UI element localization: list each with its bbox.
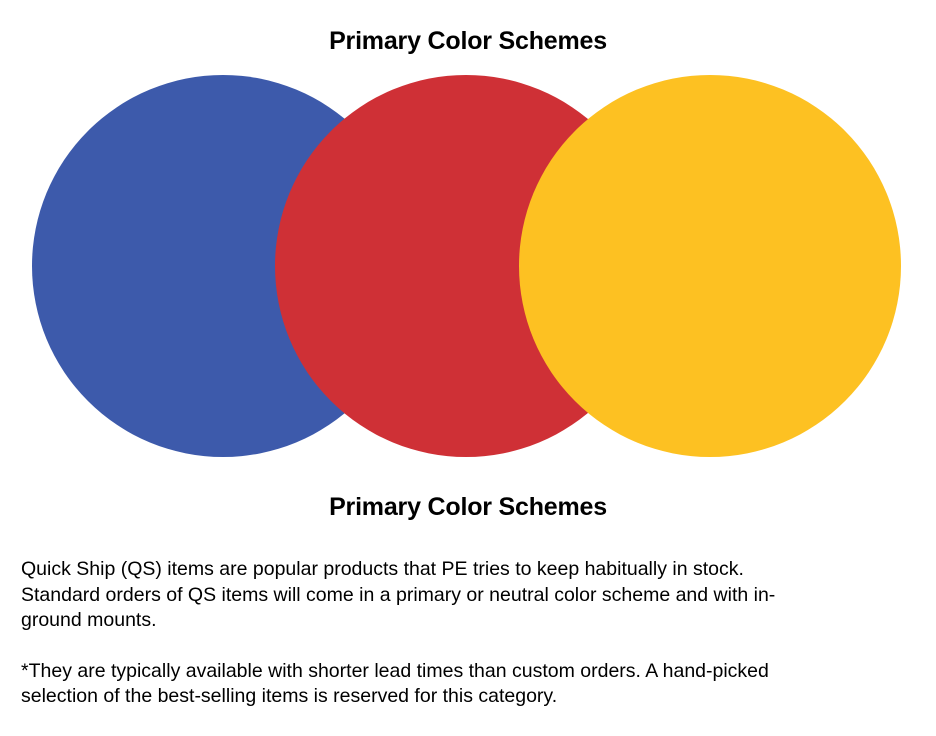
paragraph-1-line-2: Standard orders of QS items will come in… [21,583,911,609]
paragraph-2-line-1: *They are typically available with short… [21,659,911,685]
venn-diagram [0,68,936,468]
body-copy: Quick Ship (QS) items are popular produc… [21,557,911,710]
paragraph-1-line-3: ground mounts. [21,608,911,634]
page-title-bottom: Primary Color Schemes [0,492,936,522]
page-title-top: Primary Color Schemes [0,26,936,56]
paragraph-1-line-1: Quick Ship (QS) items are popular produc… [21,557,911,583]
yellow-circle [519,75,901,457]
paragraph-2: *They are typically available with short… [21,659,911,710]
slide-canvas: Primary Color Schemes Primary Color Sche… [0,0,936,736]
paragraph-1: Quick Ship (QS) items are popular produc… [21,557,911,634]
paragraph-2-line-2: selection of the best-selling items is r… [21,684,911,710]
